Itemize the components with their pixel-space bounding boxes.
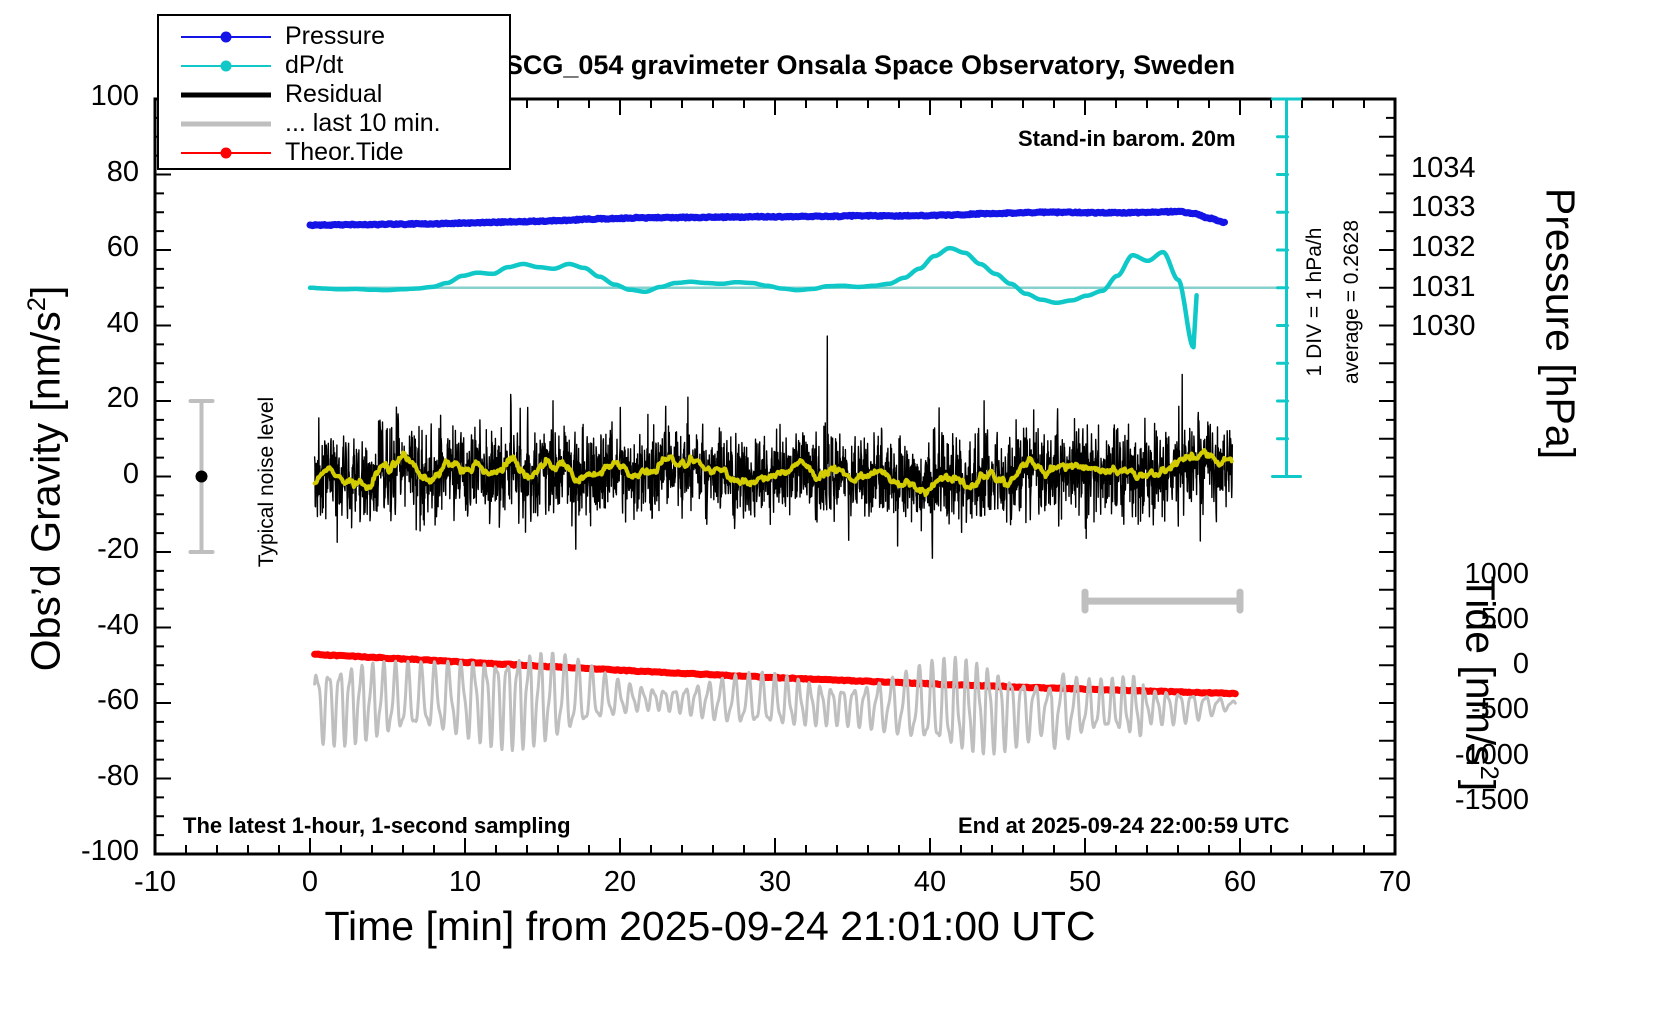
legend-swatch-pressure [181,27,271,47]
noise-bar-center-dot [196,471,208,483]
pressure-tick-label: 1034 [1411,152,1521,185]
tide-tick-label: 0 [1411,648,1529,681]
legend-label-pressure: Pressure [285,22,385,51]
legend-item-residual: Residual [159,80,509,109]
y-axis-title-right-pressure: Pressure [hPa] [1537,4,1584,644]
x-tick-label: 30 [735,866,815,899]
legend-swatch-theortide [181,143,271,163]
annotation-end-time: End at 2025-09-24 22:00:59 UTC [958,813,1289,839]
pressure-tick-label: 1031 [1411,271,1521,304]
legend-item-pressure: Pressure [159,22,509,51]
legend-label-theortide: Theor.Tide [285,138,404,167]
y-tick-label: -20 [35,533,139,566]
chart-page: SCG_054 gravimeter Onsala Space Observat… [0,0,1660,1020]
legend-label-last10: ... last 10 min. [285,109,441,138]
y-tick-label: -100 [35,835,139,868]
tide-tick-label: -1500 [1411,784,1529,817]
legend-item-last10: ... last 10 min. [159,109,509,138]
legend: Pressure dP/dt Residual ... last 10 min. [157,14,511,170]
y-tick-label: 60 [35,231,139,264]
tide-tick-label: 1000 [1411,558,1529,591]
y-tick-label: -40 [35,609,139,642]
y-tick-label: 100 [35,80,139,113]
x-tick-label: -10 [115,866,195,899]
x-tick-label: 20 [580,866,660,899]
annotation-stand-in-barometer: Stand-in barom. 20m [1018,126,1236,152]
legend-item-theortide: Theor.Tide [159,138,509,167]
tide-tick-label: -500 [1411,693,1529,726]
x-tick-label: 10 [425,866,505,899]
series-dpdt [310,248,1197,347]
x-axis-title: Time [min] from 2025-09-24 21:01:00 UTC [0,903,1420,950]
y-tick-label: 40 [35,307,139,340]
pressure-tick-label: 1032 [1411,231,1521,264]
y-tick-label: 0 [35,458,139,491]
legend-swatch-last10 [181,114,271,134]
pressure-tick-label: 1030 [1411,310,1521,343]
x-tick-label: 40 [890,866,970,899]
tide-tick-label: 500 [1411,603,1529,636]
y-tick-label: 80 [35,156,139,189]
y-tick-label: 20 [35,382,139,415]
legend-label-residual: Residual [285,80,382,109]
x-tick-label: 50 [1045,866,1125,899]
annotation-noise-level: Typical noise level [255,367,279,597]
series-residual [315,336,1233,558]
x-tick-label: 70 [1355,866,1435,899]
series-pressure [310,211,1225,225]
x-tick-label: 60 [1200,866,1280,899]
x-tick-label: 0 [270,866,350,899]
y-tick-label: -80 [35,760,139,793]
legend-item-dpdt: dP/dt [159,51,509,80]
legend-swatch-dpdt [181,56,271,76]
y-axis-title-right-tide: Tide [nm/s2] [1457,444,1504,924]
annotation-dpdt-average: average = 0.2628 [1340,182,1364,422]
legend-swatch-residual [181,85,271,105]
annotation-dpdt-division: 1 DIV = 1 hPa/h [1303,182,1327,422]
annotation-sampling-note: The latest 1-hour, 1-second sampling [183,813,571,839]
tide-tick-label: -1000 [1411,739,1529,772]
pressure-tick-label: 1033 [1411,191,1521,224]
y-tick-label: -60 [35,684,139,717]
series-last-10-min [315,653,1236,754]
legend-label-dpdt: dP/dt [285,51,343,80]
